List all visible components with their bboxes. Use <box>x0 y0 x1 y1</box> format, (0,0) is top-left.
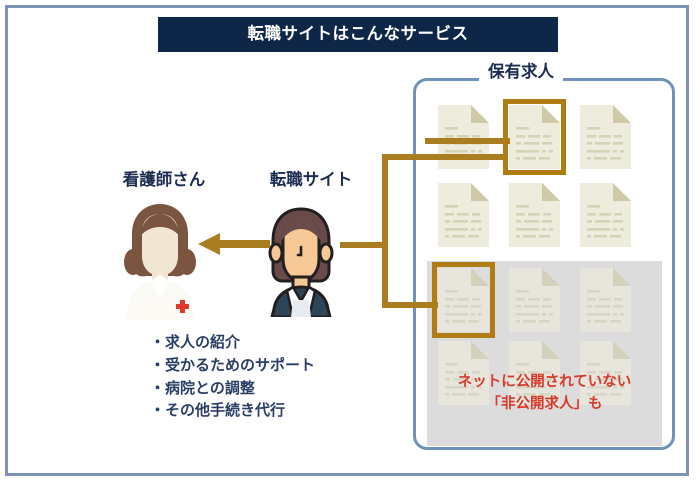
connector-branch-public <box>382 154 508 160</box>
left-arrow-icon <box>196 232 270 256</box>
held-jobs-panel-title: 保有求人 <box>479 64 563 81</box>
service-list-item: ・受かるためのサポート <box>150 355 400 378</box>
hidden-jobs-caption-line-1: ネットに公開されていない <box>427 371 662 393</box>
agent-label: 転職サイト <box>250 172 372 189</box>
page-title: 転職サイトはこんなサービス <box>248 26 469 43</box>
connector-branch-hidden <box>382 302 438 308</box>
nurse-label: 看護師さん <box>103 172 225 189</box>
service-list: ・求人の紹介 ・受かるためのサポート ・病院との調整 ・その他手続き代行 <box>150 332 400 423</box>
header-banner: 転職サイトはこんなサービス <box>158 17 558 52</box>
document-icon <box>438 183 489 247</box>
hidden-jobs-caption: ネットに公開されていない 「非公開求人」も <box>427 371 662 416</box>
service-list-item: ・病院との調整 <box>150 378 400 401</box>
service-list-item: ・求人の紹介 <box>150 332 400 355</box>
highlighted-job-public <box>503 99 566 175</box>
document-icon <box>509 183 560 247</box>
document-icon <box>580 268 631 332</box>
connector-agent-stub <box>340 242 382 248</box>
highlighted-job-hidden <box>432 262 495 338</box>
infographic-canvas: 転職サイトはこんなサービス 保有求人 <box>0 0 700 487</box>
document-icon <box>580 105 631 169</box>
nurse-avatar-icon <box>104 192 216 320</box>
career-advisor-avatar-icon <box>262 205 340 317</box>
connector-vertical-trunk <box>382 154 388 308</box>
connector-public-entry <box>425 138 510 144</box>
document-icon <box>580 183 631 247</box>
hidden-jobs-caption-line-2: 「非公開求人」も <box>427 393 662 415</box>
service-list-item: ・その他手続き代行 <box>150 400 400 423</box>
document-icon <box>509 268 560 332</box>
